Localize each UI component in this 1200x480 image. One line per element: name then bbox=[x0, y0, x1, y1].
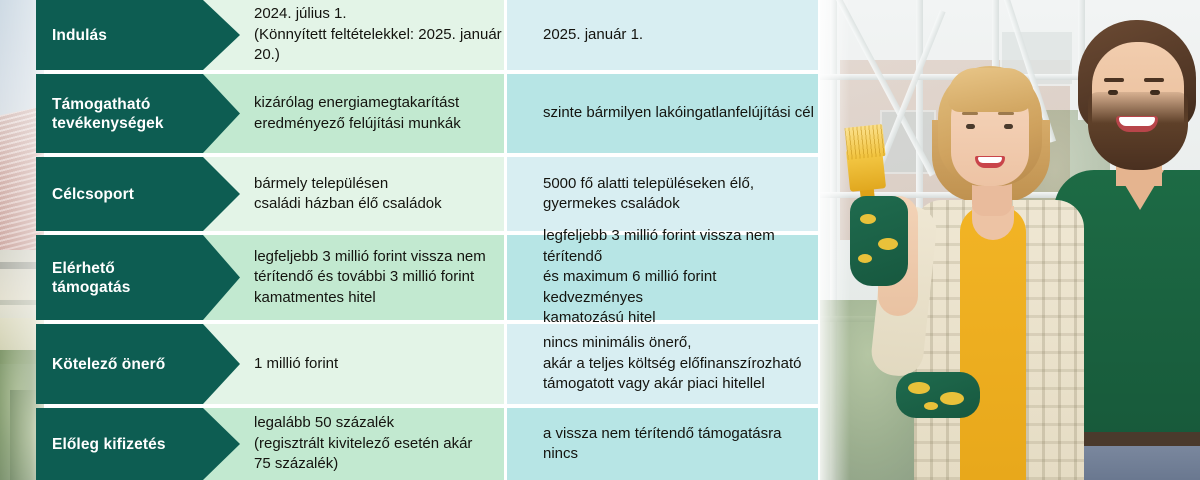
man-belt bbox=[1072, 432, 1200, 446]
row-6-label-text: Előleg kifizetés bbox=[52, 435, 166, 454]
glove-paint-splash bbox=[878, 238, 898, 250]
row-4-column-b-text: legfeljebb 3 millió forint vissza nem té… bbox=[543, 226, 818, 329]
row-6-column-b-text: a vissza nem térítendő támogatásra nincs bbox=[543, 424, 818, 465]
row-1-column-a-cell: 2024. július 1. (Könnyített feltételekke… bbox=[203, 0, 504, 70]
row-5-label-text: Kötelező önerő bbox=[52, 355, 165, 374]
photo-left-fade bbox=[820, 0, 850, 480]
row-2-column-b-cell: szinte bármilyen lakóingatlanfelújítási … bbox=[507, 74, 818, 153]
table-row: legalább 50 százalék (regisztrált kivite… bbox=[36, 408, 818, 480]
row-4-column-a-cell: legfeljebb 3 millió forint vissza nem té… bbox=[203, 235, 504, 320]
row-4-column-a-text: legfeljebb 3 millió forint vissza nem té… bbox=[254, 247, 486, 309]
row-6-column-a-text: legalább 50 százalék (regisztrált kivite… bbox=[254, 413, 472, 475]
row-1-label-text: Indulás bbox=[52, 26, 107, 45]
row-2-column-a-text: kizárólag energiamegtakarítást eredménye… bbox=[254, 93, 461, 134]
row-2-column-b-text: szinte bármilyen lakóingatlanfelújítási … bbox=[543, 103, 814, 124]
man-jeans bbox=[1072, 440, 1200, 480]
row-1-label-cell: Indulás bbox=[36, 0, 203, 70]
glove-paint-splash bbox=[940, 392, 964, 405]
row-1-column-b-cell: 2025. január 1. bbox=[507, 0, 818, 70]
row-1-column-a-text: 2024. július 1. (Könnyített feltételekke… bbox=[254, 4, 504, 66]
row-4-label-cell: Elérhető támogatás bbox=[36, 235, 203, 320]
row-6-column-a-cell: legalább 50 százalék (regisztrált kivite… bbox=[203, 408, 504, 480]
row-5-column-a-background bbox=[203, 324, 504, 404]
row-3-column-a-text: bármely településen családi házban élő c… bbox=[254, 174, 442, 215]
infographic-canvas: 2024. július 1. (Könnyített feltételekke… bbox=[0, 0, 1200, 480]
table-row: 1 millió forint nincs minimális önerő, a… bbox=[36, 324, 818, 404]
glove-paint-splash bbox=[908, 382, 930, 394]
woman-teeth bbox=[978, 157, 1002, 163]
row-2-label-cell: Támogatható tevékenységek bbox=[36, 74, 203, 153]
row-3-label-cell: Célcsoport bbox=[36, 157, 203, 231]
row-3-column-b-text: 5000 fő alatti településeken élő, gyerme… bbox=[543, 174, 754, 215]
row-3-label-text: Célcsoport bbox=[52, 185, 134, 204]
row-1-column-b-text: 2025. január 1. bbox=[543, 25, 643, 46]
woman-eye bbox=[966, 124, 975, 129]
glove-paint-splash bbox=[860, 214, 876, 224]
man-eyebrow bbox=[1144, 78, 1164, 82]
row-5-label-cell: Kötelező önerő bbox=[36, 324, 203, 404]
table-row: bármely településen családi házban élő c… bbox=[36, 157, 818, 231]
row-5-column-b-cell: nincs minimális önerő, akár a teljes köl… bbox=[507, 324, 818, 404]
row-4-label-text: Elérhető támogatás bbox=[52, 259, 130, 297]
woman-eyebrow bbox=[998, 112, 1014, 115]
row-5-column-a-cell: 1 millió forint bbox=[203, 324, 504, 404]
woman-tank-top bbox=[960, 206, 1026, 480]
man-eyebrow bbox=[1104, 78, 1124, 82]
row-3-column-b-cell: 5000 fő alatti településeken élő, gyerme… bbox=[507, 157, 818, 231]
woman-bangs bbox=[948, 68, 1034, 112]
man-teeth bbox=[1119, 117, 1155, 126]
woman-glove-upper bbox=[850, 196, 908, 286]
woman-eyebrow bbox=[962, 112, 978, 115]
woman-glove-lower bbox=[896, 372, 980, 418]
table-row: legfeljebb 3 millió forint vissza nem té… bbox=[36, 235, 818, 320]
glove-paint-splash bbox=[858, 254, 872, 263]
row-5-column-b-text: nincs minimális önerő, akár a teljes köl… bbox=[543, 333, 801, 395]
couple-photo bbox=[820, 0, 1200, 480]
row-6-label-cell: Előleg kifizetés bbox=[36, 408, 203, 480]
table-row: 2024. július 1. (Könnyített feltételekke… bbox=[36, 0, 818, 70]
table-row: kizárólag energiamegtakarítást eredménye… bbox=[36, 74, 818, 153]
row-4-column-b-cell: legfeljebb 3 millió forint vissza nem té… bbox=[507, 235, 818, 320]
row-3-column-a-cell: bármely településen családi házban élő c… bbox=[203, 157, 504, 231]
row-2-column-a-cell: kizárólag energiamegtakarítást eredménye… bbox=[203, 74, 504, 153]
row-2-label-text: Támogatható tevékenységek bbox=[52, 95, 164, 133]
row-5-column-a-text: 1 millió forint bbox=[254, 354, 338, 375]
comparison-table: 2024. július 1. (Könnyített feltételekke… bbox=[36, 0, 818, 480]
paintbrush-bristles-icon bbox=[844, 124, 885, 160]
woman-eye bbox=[1004, 124, 1013, 129]
row-6-column-b-cell: a vissza nem térítendő támogatásra nincs bbox=[507, 408, 818, 480]
glove-paint-splash bbox=[924, 402, 938, 410]
